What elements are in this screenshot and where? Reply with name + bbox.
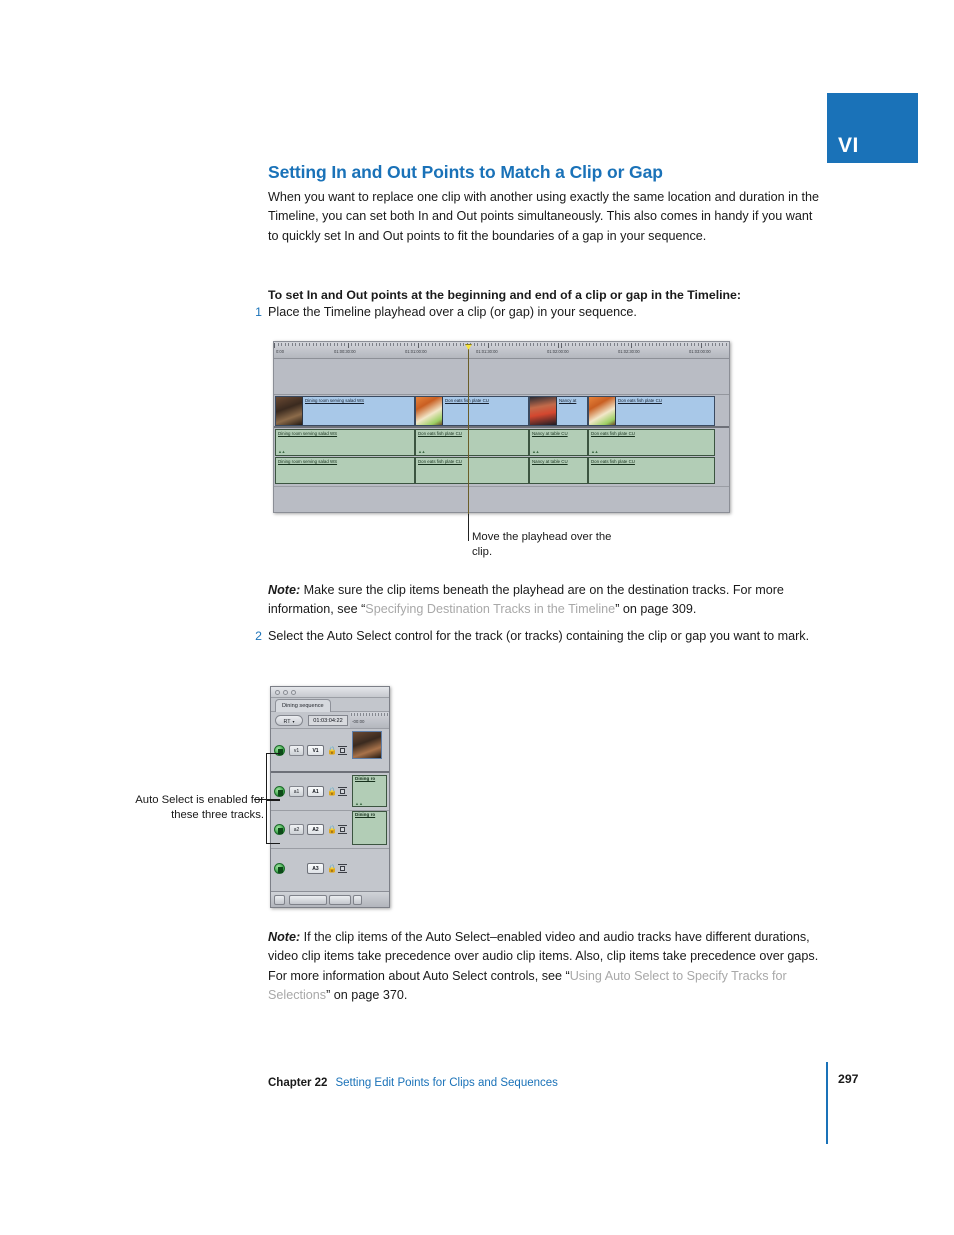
destination-track-button-A2[interactable]: A2: [307, 824, 324, 835]
video-clip-item[interactable]: Don eats fish plate CU: [415, 396, 529, 426]
timeline-audio-track-a1[interactable]: Dining room serving salad WS ▲▲ Don eats…: [274, 429, 729, 457]
audio-clip-item[interactable]: Don eats fish plate CU ▲▲: [588, 429, 715, 456]
video-clip-label: Don eats fish plate CU: [445, 398, 489, 403]
page-number: 297: [838, 1072, 859, 1086]
current-timecode-field[interactable]: 01:03:04:22: [308, 715, 348, 726]
track-strip-a2[interactable]: Dining ro: [350, 811, 389, 848]
minimize-icon[interactable]: [283, 690, 288, 695]
figure1-callout-line: [468, 513, 469, 541]
close-icon[interactable]: [275, 690, 280, 695]
audio-clip-label: Dining room serving salad WS: [278, 431, 337, 436]
ruler-label-4: 01:02:00:00: [547, 349, 569, 354]
track-controls-a2[interactable]: a2 A2 🔒: [271, 811, 350, 848]
audio-clip-label: Don eats fish plate CU: [418, 431, 462, 436]
procedure-step-1: 1 Place the Timeline playhead over a cli…: [268, 303, 828, 322]
chevron-down-icon: ▾: [293, 719, 295, 724]
audio-clip-label: Don eats fish plate CU: [418, 459, 462, 464]
step-text-2: Select the Auto Select control for the t…: [268, 629, 809, 643]
maximize-icon[interactable]: [291, 690, 296, 695]
track-controls-screenshot: Dining sequence RT▾ 01:03:04:22 -00:00 v…: [270, 686, 390, 908]
timeline-video-track-v1[interactable]: Dining room serving salad WS Don eats fi…: [274, 395, 729, 428]
video-clip-label: Dining room serving salad WS: [305, 398, 364, 403]
audio-clip-item[interactable]: Dining room serving salad WS: [275, 457, 415, 484]
audio-clip-item[interactable]: Dining ro: [352, 811, 387, 845]
audio-clip-item[interactable]: Don eats fish plate CU: [415, 457, 529, 484]
play-button-icon[interactable]: [353, 895, 362, 905]
ruler-label-small: -00:00: [352, 719, 364, 724]
track-controls-v1[interactable]: v1 V1 🔒: [271, 729, 350, 771]
auto-select-icon-a2[interactable]: [338, 825, 347, 834]
footer-title: Setting Edit Points for Clips and Sequen…: [335, 1077, 557, 1089]
timeline-empty-upper-tracks[interactable]: [274, 359, 729, 395]
rt-popup-button[interactable]: RT▾: [275, 715, 303, 726]
ruler-label-3: 01:01:30:00: [476, 349, 498, 354]
auto-select-icon-v1[interactable]: [338, 746, 347, 755]
waveform-icon: ▲▲: [278, 449, 285, 454]
audio-clip-label: Nancy at table CU: [532, 431, 568, 436]
audio-clip-label: Nancy at table CU: [532, 459, 568, 464]
ruler-label-0: 0:00: [276, 349, 284, 354]
track-row-a1[interactable]: a1 A1 🔒 Dining ro ▲▲: [271, 773, 389, 811]
footer-divider: [826, 1062, 828, 1144]
sequence-tab-bar[interactable]: Dining sequence: [271, 698, 389, 712]
clip-thumbnail-icon: [530, 397, 557, 425]
rt-label: RT: [283, 719, 290, 725]
track-strip-a1[interactable]: Dining ro ▲▲: [350, 773, 389, 810]
timeline-bottom-bar[interactable]: [271, 891, 389, 907]
note-cross-reference-link[interactable]: Specifying Destination Tracks in the Tim…: [365, 602, 615, 616]
note-destination-tracks: Note: Make sure the clip items beneath t…: [268, 581, 824, 620]
video-clip-label: Don eats fish plate CU: [618, 398, 662, 403]
ruler-label-5: 01:02:30:00: [618, 349, 640, 354]
source-track-button-a1[interactable]: a1: [289, 786, 304, 797]
waveform-icon: ▲▲: [532, 449, 539, 454]
track-row-a2[interactable]: a2 A2 🔒 Dining ro: [271, 811, 389, 849]
audio-clip-item[interactable]: Nancy at table CU ▲▲: [529, 429, 588, 456]
note-prefix: Note:: [268, 583, 300, 597]
figure2-callout-bracket-bottom: [266, 799, 280, 844]
timeline-audio-tracks[interactable]: Dining room serving salad WS ▲▲ Don eats…: [274, 428, 729, 486]
chapter-marker-tab: VI: [827, 93, 918, 163]
track-height-control[interactable]: [329, 895, 351, 905]
audio-clip-item[interactable]: Nancy at table CU: [529, 457, 588, 484]
video-clip-item[interactable]: Don eats fish plate CU: [588, 396, 715, 426]
track-strip-a3[interactable]: [350, 849, 389, 892]
figure2-callout-bracket-top: [266, 753, 280, 801]
lock-icon[interactable]: 🔒: [327, 864, 334, 873]
figure1-caption: Move the playhead over the clip.: [472, 530, 632, 560]
audio-clip-item[interactable]: Dining ro ▲▲: [352, 775, 387, 807]
timeline-ruler-small[interactable]: -00:00: [350, 712, 389, 729]
audio-clip-item[interactable]: Don eats fish plate CU: [588, 457, 715, 484]
tab-dining-sequence[interactable]: Dining sequence: [275, 699, 331, 712]
clip-thumbnail-icon: [589, 397, 616, 425]
auto-select-icon-a1[interactable]: [338, 787, 347, 796]
timeline-audio-track-a2[interactable]: Dining room serving salad WS Don eats fi…: [274, 457, 729, 485]
lock-icon[interactable]: 🔒: [327, 787, 334, 796]
timeline-lower-empty-area[interactable]: [274, 486, 729, 512]
ruler-ticks-small: [351, 713, 389, 717]
track-list: v1 V1 🔒 a1 A1 🔒: [271, 729, 389, 891]
ruler-label-2: 01:01:00:00: [405, 349, 427, 354]
clip-overlays-button[interactable]: [289, 895, 327, 905]
track-audible-toggle-icon[interactable]: [274, 863, 285, 874]
audio-clip-item[interactable]: Dining room serving salad WS ▲▲: [275, 429, 415, 456]
audio-clip-label: Don eats fish plate CU: [591, 431, 635, 436]
procedure-heading: To set In and Out points at the beginnin…: [268, 286, 828, 304]
audio-clip-label: Dining room serving salad WS: [278, 459, 337, 464]
lock-icon[interactable]: 🔒: [327, 746, 334, 755]
waveform-icon: ▲▲: [355, 801, 363, 806]
track-strip-v1[interactable]: [350, 729, 389, 771]
note-auto-select: Note: If the clip items of the Auto Sele…: [268, 928, 824, 1006]
ruler-label-1: 01:00:30:00: [334, 349, 356, 354]
intro-paragraph: When you want to replace one clip with a…: [268, 188, 820, 246]
video-clip-item[interactable]: Nancy at: [529, 396, 588, 426]
step-text-1: Place the Timeline playhead over a clip …: [268, 305, 637, 319]
page-footer: Chapter 22Setting Edit Points for Clips …: [268, 1073, 868, 1091]
auto-select-icon-a3[interactable]: [338, 864, 347, 873]
audio-clip-label: Dining ro: [355, 776, 375, 781]
footer-chapter: Chapter 22: [268, 1077, 327, 1089]
lock-icon[interactable]: 🔒: [327, 825, 334, 834]
note-text-after: ” on page 370.: [326, 988, 407, 1002]
video-clip-item[interactable]: [352, 731, 382, 759]
track-controls-a1[interactable]: a1 A1 🔒: [271, 773, 350, 810]
ruler-label-6: 01:03:00:00: [689, 349, 711, 354]
audio-clip-label: Don eats fish plate CU: [591, 459, 635, 464]
video-clip-item[interactable]: Dining room serving salad WS: [275, 396, 415, 426]
timeline-ruler[interactable]: 0:00 01:00:30:00 01:01:00:00 01:01:30:00…: [274, 342, 729, 359]
page-title: Setting In and Out Points to Match a Cli…: [268, 162, 848, 183]
source-track-button-v1[interactable]: v1: [289, 745, 304, 756]
window-titlebar[interactable]: [271, 687, 389, 698]
audio-clip-label: Dining ro: [355, 812, 375, 817]
clip-thumbnail-icon: [276, 397, 303, 425]
track-row-v1[interactable]: v1 V1 🔒: [271, 729, 389, 773]
destination-track-button-A3[interactable]: A3: [307, 863, 324, 874]
audio-clip-item[interactable]: Don eats fish plate CU ▲▲: [415, 429, 529, 456]
step-number-1: 1: [250, 303, 262, 322]
audio-meter-toggle-icon[interactable]: [274, 895, 285, 905]
waveform-icon: ▲▲: [591, 449, 598, 454]
track-controls-a3[interactable]: A3 🔒: [271, 849, 350, 892]
track-row-a3[interactable]: A3 🔒: [271, 849, 389, 893]
timeline-screenshot: 0:00 01:00:30:00 01:01:00:00 01:01:30:00…: [273, 341, 730, 513]
procedure-step-2: 2 Select the Auto Select control for the…: [268, 627, 820, 646]
step-number-2: 2: [250, 627, 262, 646]
waveform-icon: ▲▲: [418, 449, 425, 454]
note-prefix: Note:: [268, 930, 300, 944]
ruler-ticks: [274, 343, 729, 348]
destination-track-button-V1[interactable]: V1: [307, 745, 324, 756]
source-track-button-a2[interactable]: a2: [289, 824, 304, 835]
playhead-line[interactable]: [468, 346, 469, 514]
clip-thumbnail-icon: [416, 397, 443, 425]
chapter-marker-label: VI: [838, 134, 859, 158]
figure2-caption: Auto Select is enabled for these three t…: [122, 793, 264, 823]
destination-track-button-A1[interactable]: A1: [307, 786, 324, 797]
video-clip-label: Nancy at: [559, 398, 576, 403]
note-text-after: ” on page 309.: [615, 602, 696, 616]
